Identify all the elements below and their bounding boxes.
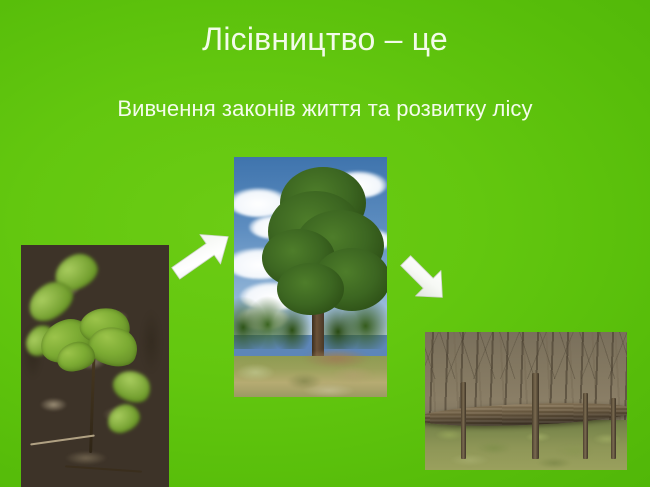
oak-seedling-photo[interactable] xyxy=(21,245,169,487)
arrow-down-right-icon xyxy=(396,250,452,308)
seedling-scene xyxy=(21,245,169,487)
arrow-up-right-icon xyxy=(168,229,236,281)
bare-branches xyxy=(425,332,627,379)
fallen-log-scene xyxy=(425,332,627,470)
standing-trunk xyxy=(532,373,539,459)
mature-oak-scene xyxy=(234,157,387,397)
standing-trunk xyxy=(461,382,466,459)
standing-trunk xyxy=(583,393,588,459)
fallen-log-photo[interactable] xyxy=(425,332,627,470)
presentation-slide: Лісівництво – це Вивчення законів життя … xyxy=(0,0,650,487)
oak-canopy xyxy=(277,263,344,316)
slide-title: Лісівництво – це xyxy=(0,22,650,57)
forest-floor-texture xyxy=(425,420,627,470)
dirt-path xyxy=(304,349,368,368)
slide-subtitle: Вивчення законів життя та розвитку лісу xyxy=(0,96,650,121)
standing-trunk xyxy=(611,398,616,459)
mature-oak-photo[interactable] xyxy=(234,157,387,397)
